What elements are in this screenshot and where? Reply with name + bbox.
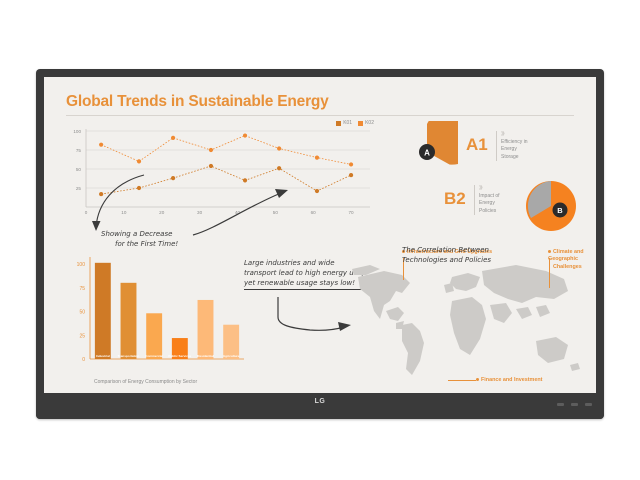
pie-a1-desc-line-1: Efficiency in bbox=[501, 139, 528, 147]
chevron-right-icon: ⟩⟩⟩ bbox=[479, 185, 500, 193]
page-title: Global Trends in Sustainable Energy bbox=[66, 93, 329, 111]
pie-b2-description: ⟩⟩⟩ Impact of Energy Policies bbox=[474, 185, 500, 215]
chevron-right-icon: ⟩⟩⟩ bbox=[501, 131, 528, 139]
presentation-slide: Global Trends in Sustainable Energy K01 … bbox=[44, 77, 596, 393]
map-label-finance-text: Finance and Investment bbox=[481, 377, 542, 383]
pie-chart-group: A A1 ⟩⟩⟩ Efficiency in Energy Storage B2… bbox=[396, 121, 578, 241]
title-divider bbox=[66, 115, 574, 116]
annotation-arrow-upward bbox=[189, 185, 294, 237]
svg-text:75: 75 bbox=[76, 148, 82, 153]
map-label-climate: Climate and Geographic Challenges bbox=[548, 249, 596, 271]
bar-label-5: Agriculture bbox=[223, 354, 240, 358]
osd-control-group[interactable] bbox=[557, 403, 592, 406]
map-label-climate-text-2: Challenges bbox=[548, 264, 596, 271]
pie-b2-desc-line-2: Energy bbox=[479, 200, 500, 208]
bar-label-2: Commercial bbox=[145, 354, 163, 358]
screenshot-root: Global Trends in Sustainable Energy K01 … bbox=[0, 0, 640, 480]
display-monitor: Global Trends in Sustainable Energy K01 … bbox=[36, 69, 604, 419]
monitor-screen: Global Trends in Sustainable Energy K01 … bbox=[44, 77, 596, 393]
note-correlation-line-1: The Correlation Between bbox=[402, 245, 532, 255]
pie-chart-a1: A bbox=[396, 121, 458, 183]
menu-indicator-icon[interactable] bbox=[557, 403, 564, 406]
map-dot-icon bbox=[548, 250, 551, 253]
svg-text:50: 50 bbox=[76, 167, 82, 172]
pie-a1-desc-line-2: Energy bbox=[501, 146, 528, 154]
bar-chart-caption: Comparison of Energy Consumption by Sect… bbox=[94, 379, 197, 385]
annotation-arrow-line-chart bbox=[84, 173, 154, 235]
power-indicator-icon[interactable] bbox=[585, 403, 592, 406]
svg-text:100: 100 bbox=[77, 262, 86, 268]
pie-b2-desc-line-3: Policies bbox=[479, 208, 500, 216]
brand-logo: LG bbox=[315, 398, 326, 405]
bar-label-1: Transportation bbox=[118, 354, 140, 358]
svg-text:75: 75 bbox=[79, 286, 85, 292]
monitor-bottom-bezel: LG bbox=[36, 393, 604, 419]
bar-label-0: Industrial bbox=[96, 354, 110, 358]
svg-text:25: 25 bbox=[76, 186, 82, 191]
bar-chart-canvas: 1007550250IndustrialTransportationCommer… bbox=[68, 253, 248, 375]
map-stem bbox=[549, 258, 550, 288]
pie-b2-badge-label: B bbox=[557, 206, 563, 215]
pie-chart-b2: B bbox=[524, 179, 578, 233]
input-indicator-icon[interactable] bbox=[571, 403, 578, 406]
svg-text:50: 50 bbox=[79, 310, 85, 316]
pie-b2-code: B2 bbox=[444, 189, 466, 209]
bar-chart: 1007550250IndustrialTransportationCommer… bbox=[68, 253, 248, 385]
world-map: Infrastructure and Grid Upgrades Climate… bbox=[340, 249, 596, 393]
map-label-climate-text-1: Climate and Geographic bbox=[548, 249, 584, 262]
note-decrease-line-2: for the First Time! bbox=[101, 239, 221, 249]
bar-label-4: Residential bbox=[197, 354, 214, 358]
pie-a1-description: ⟩⟩⟩ Efficiency in Energy Storage bbox=[496, 131, 528, 161]
svg-text:0: 0 bbox=[82, 357, 85, 363]
pie-b2-desc-line-1: Impact of bbox=[479, 193, 500, 201]
map-stem bbox=[448, 380, 476, 381]
svg-text:70: 70 bbox=[349, 210, 355, 215]
pie-a1-desc-line-3: Storage bbox=[501, 154, 528, 162]
svg-text:100: 100 bbox=[73, 129, 81, 134]
pie-a1-badge-label: A bbox=[424, 149, 430, 158]
annotation-note-correlation: The Correlation Between Technologies and… bbox=[402, 245, 532, 265]
svg-text:60: 60 bbox=[311, 210, 317, 215]
map-label-finance: Finance and Investment bbox=[476, 377, 542, 384]
svg-text:20: 20 bbox=[159, 210, 165, 215]
map-dot-icon bbox=[476, 378, 479, 381]
note-correlation-line-2: Technologies and Policies bbox=[402, 255, 532, 265]
bar-label-3: Public Services bbox=[168, 354, 191, 358]
pie-a1-code: A1 bbox=[466, 135, 488, 155]
svg-text:25: 25 bbox=[79, 333, 85, 339]
